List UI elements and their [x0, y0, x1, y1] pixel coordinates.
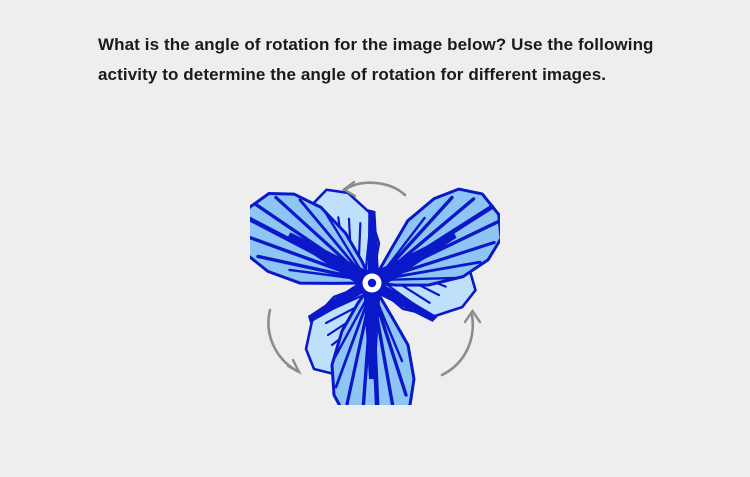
flower: [250, 165, 500, 405]
flower-center-hub: [359, 270, 385, 296]
arrow-left: [268, 310, 299, 372]
page-title: What is the angle of rotation for the im…: [98, 30, 658, 90]
slide-canvas: What is the angle of rotation for the im…: [0, 0, 750, 477]
arrow-right: [442, 311, 480, 375]
rotational-symmetry-flower-figure: [250, 165, 500, 405]
arrow-top: [344, 182, 405, 196]
figure-container: [250, 165, 500, 405]
